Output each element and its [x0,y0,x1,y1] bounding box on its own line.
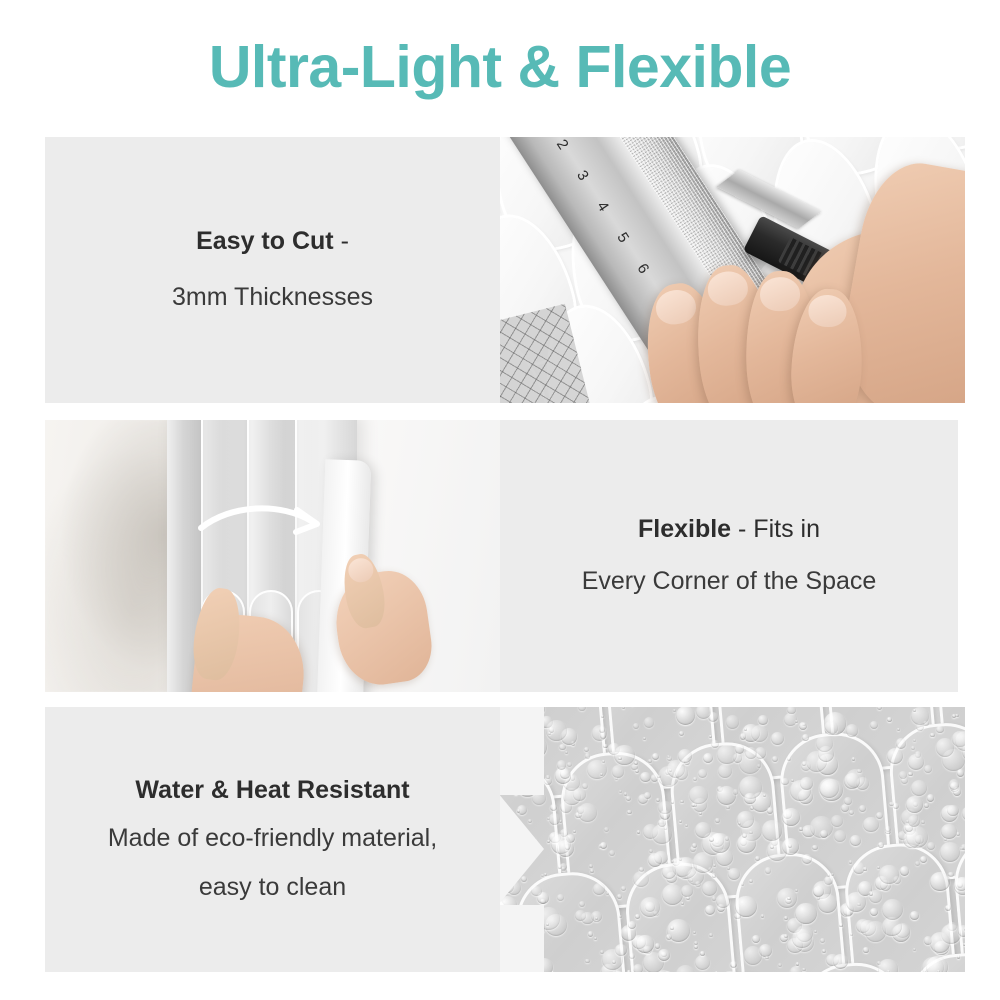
feature-text-panel-flexible: Flexible - Fits in Every Corner of the S… [500,420,958,692]
feature-row-flexible: Flexible - Fits in Every Corner of the S… [45,420,958,692]
feature-headline-bold: Easy to Cut [196,227,334,255]
feature-headline-water-heat-resistant: Water & Heat Resistant [135,774,409,808]
infographic-page: Ultra-Light & Flexible Easy to Cut - 3mm… [0,0,1000,1000]
fingernail-icon [706,270,749,308]
feature-image-water-heat-resistant [500,707,965,972]
bend-direction-arrow-icon [197,494,327,546]
page-header: Ultra-Light & Flexible [0,36,1000,100]
feature-subline2-water-heat-resistant: easy to clean [199,870,346,905]
feature-text-panel-water-heat-resistant: Water & Heat Resistant Made of eco-frien… [45,707,500,972]
feature-text-panel-easy-to-cut: Easy to Cut - 3mm Thicknesses [45,137,500,403]
feature-headline-rest: - Fits in [731,515,820,543]
fingernail-icon [759,276,800,311]
arch-tile-field-icon [500,707,965,972]
feature-headline-bold: Flexible [638,515,731,543]
feature-row-easy-to-cut: Easy to Cut - 3mm Thicknesses 8920123456… [45,137,965,403]
feature-subline-easy-to-cut: 3mm Thicknesses [172,280,373,315]
feature-headline-flexible: Flexible - Fits in [638,513,820,547]
feature-row-water-heat-resistant: Water & Heat Resistant Made of eco-frien… [45,707,965,972]
feature-subline-flexible: Every Corner of the Space [582,564,877,599]
feature-image-easy-to-cut: 89201234567 [500,137,965,403]
feature-subline-water-heat-resistant: Made of eco-friendly material, [108,821,437,856]
feature-headline-rest: - [334,227,349,255]
feature-headline-bold: Water & Heat Resistant [135,776,409,804]
page-title: Ultra-Light & Flexible [0,36,1000,100]
feature-image-flexible [45,420,500,692]
fingernail-icon [808,294,848,328]
fingernail-icon [653,287,698,327]
feature-headline-easy-to-cut: Easy to Cut - [196,225,349,259]
tile-edge-notch [500,707,544,795]
tile-edge-notch [500,905,544,972]
tile-edge-notch [500,793,544,905]
fingernail-icon [346,556,375,584]
